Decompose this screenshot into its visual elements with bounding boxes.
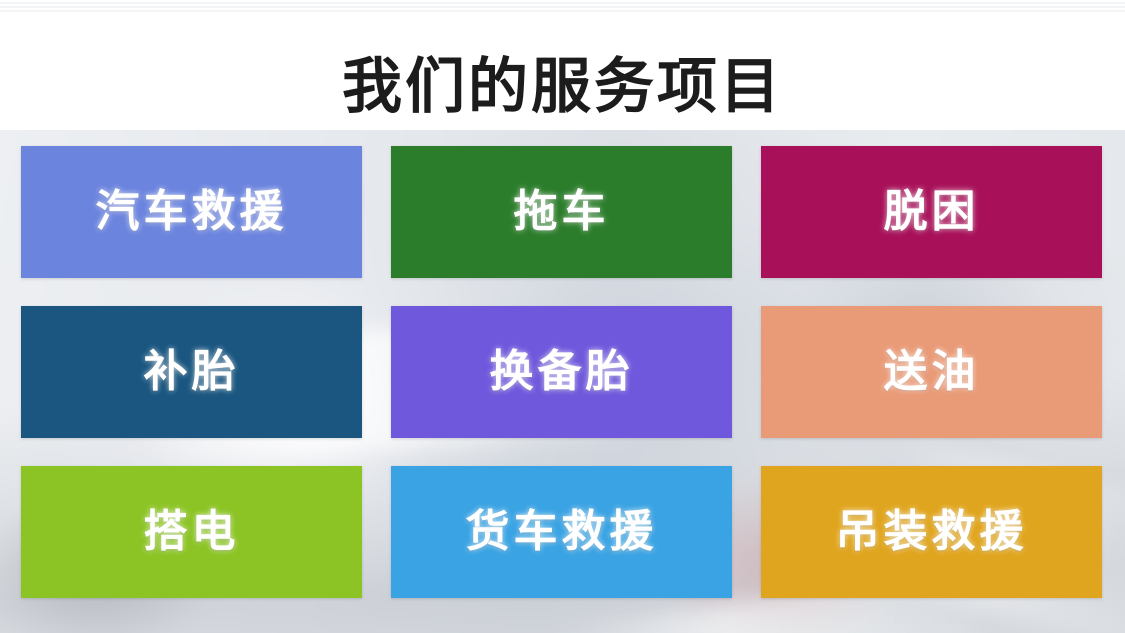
service-tile-grid: 汽车救援拖车脱困补胎换备胎送油搭电货车救援吊装救援	[21, 146, 1104, 598]
service-tile-crane-rescue[interactable]: 吊装救援	[761, 466, 1102, 598]
service-tile-spare-tire[interactable]: 换备胎	[391, 306, 732, 438]
service-tile-tire-repair[interactable]: 补胎	[21, 306, 362, 438]
service-tile-towing[interactable]: 拖车	[391, 146, 732, 278]
service-tile-extrication[interactable]: 脱困	[761, 146, 1102, 278]
service-tile-label: 脱困	[884, 190, 980, 234]
service-tile-label: 搭电	[144, 510, 240, 554]
service-tile-label: 汽车救援	[96, 190, 288, 234]
service-tile-jump-start[interactable]: 搭电	[21, 466, 362, 598]
title-band: 我们的服务项目	[0, 0, 1125, 130]
page-title: 我们的服务项目	[0, 57, 1125, 117]
service-tile-label: 换备胎	[490, 350, 634, 394]
service-tile-label: 补胎	[144, 350, 240, 394]
title-band-scanlines	[0, 0, 1125, 14]
service-tile-label: 货车救援	[466, 510, 658, 554]
service-tile-car-rescue[interactable]: 汽车救援	[21, 146, 362, 278]
service-tile-truck-rescue[interactable]: 货车救援	[391, 466, 732, 598]
service-tile-fuel-delivery[interactable]: 送油	[761, 306, 1102, 438]
service-tile-label: 送油	[884, 350, 980, 394]
service-tile-label: 吊装救援	[836, 510, 1028, 554]
service-tile-label: 拖车	[514, 190, 610, 234]
service-poster: 我们的服务项目 汽车救援拖车脱困补胎换备胎送油搭电货车救援吊装救援	[0, 0, 1125, 633]
